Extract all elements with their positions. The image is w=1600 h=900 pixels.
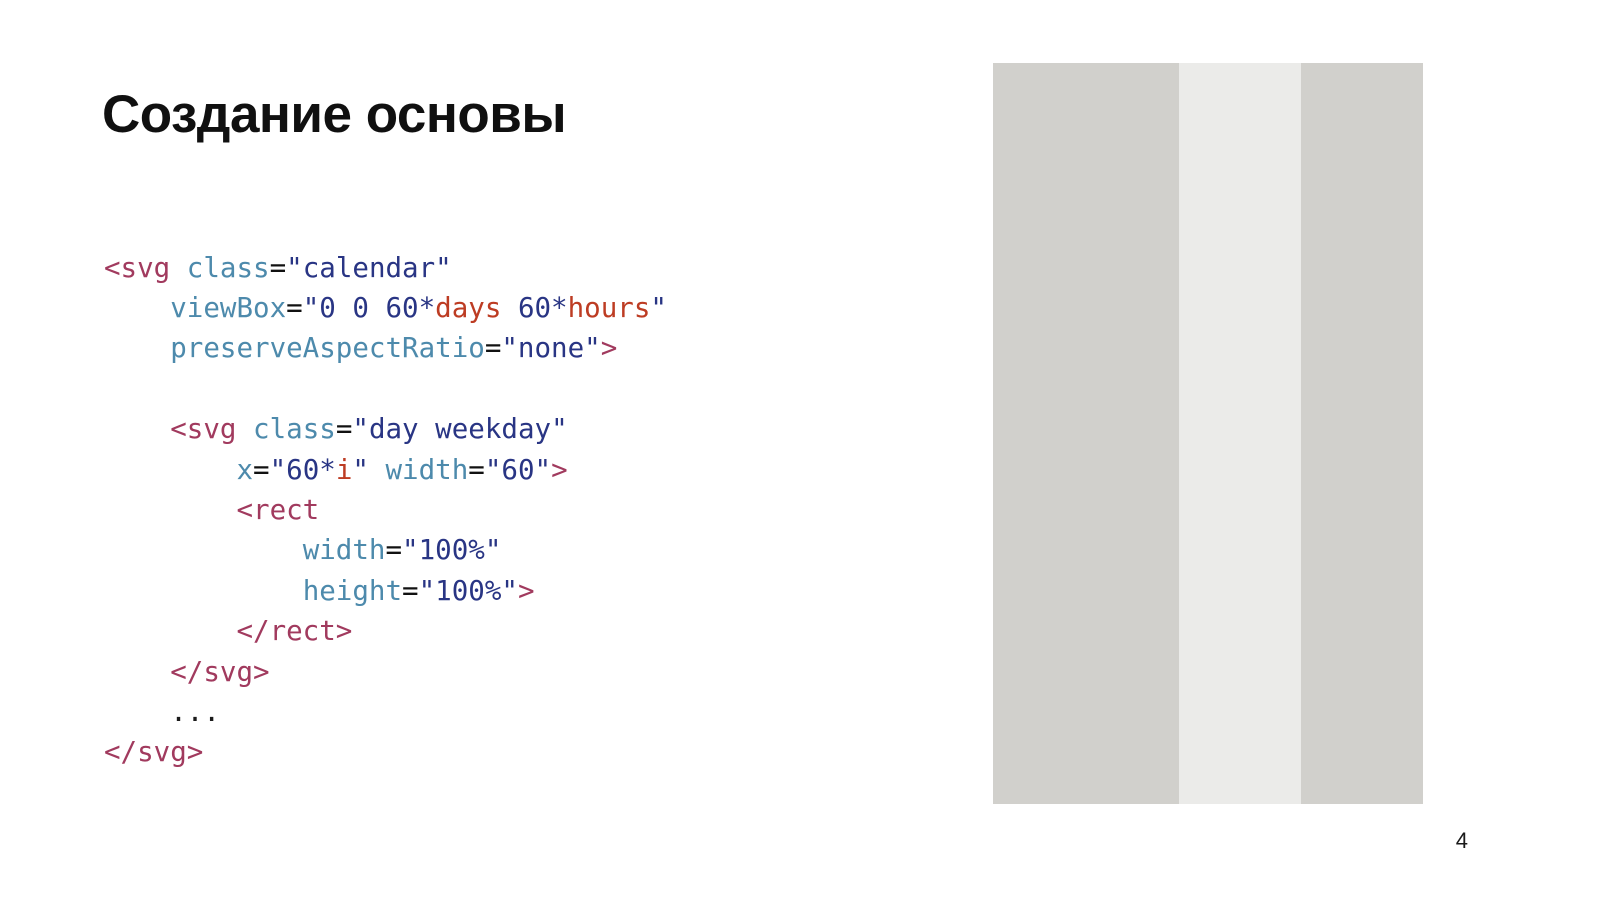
calendar-preview-figure [993, 63, 1423, 804]
code-token-tag: </rect> [236, 615, 352, 647]
code-line: width="100%" [104, 530, 667, 570]
weekday-column-2 [1301, 63, 1423, 804]
code-token-attr: preserveAspectRatio [170, 332, 485, 364]
code-indent [104, 575, 303, 607]
code-token-tag: </svg> [170, 656, 269, 688]
code-line: </rect> [104, 611, 667, 651]
code-token-plain [170, 252, 187, 284]
code-token-eq: = [336, 413, 353, 445]
code-token-attr: viewBox [170, 292, 286, 324]
code-line: viewBox="0 0 60*days 60*hours" [104, 288, 667, 328]
code-token-plain [236, 413, 253, 445]
code-line: x="60*i" width="60"> [104, 450, 667, 490]
code-token-attr: class [187, 252, 270, 284]
code-token-tag: > [551, 454, 568, 486]
code-line [104, 369, 667, 409]
code-token-eq: = [485, 332, 502, 364]
code-token-eq: = [468, 454, 485, 486]
code-line: preserveAspectRatio="none"> [104, 328, 667, 368]
code-token-attr: x [236, 454, 253, 486]
code-indent [104, 332, 170, 364]
code-token-attr: class [253, 413, 336, 445]
code-token-tag: <svg [170, 413, 236, 445]
code-token-eq: = [270, 252, 287, 284]
code-token-plain [369, 454, 386, 486]
code-token-eq: = [385, 534, 402, 566]
code-token-str: "calendar" [286, 252, 452, 284]
code-token-tag: > [601, 332, 618, 364]
code-token-var: days [435, 292, 501, 324]
slide: Создание основы <svg class="calendar" vi… [0, 0, 1600, 900]
code-line: height="100%"> [104, 571, 667, 611]
code-indent [104, 494, 236, 526]
code-token-str: "100%" [402, 534, 501, 566]
code-token-str: "60" [485, 454, 551, 486]
code-token-attr: width [303, 534, 386, 566]
code-token-str: " [650, 292, 667, 324]
weekend-column [1179, 63, 1301, 804]
code-token-str: "0 0 60* [303, 292, 435, 324]
code-token-eq: = [286, 292, 303, 324]
code-line: <svg class="day weekday" [104, 409, 667, 449]
code-token-str: "none" [501, 332, 600, 364]
page-number: 4 [1456, 830, 1468, 852]
code-token-tag: </svg> [104, 736, 203, 768]
code-token-plain: ... [170, 696, 220, 728]
code-token-str: "60* [270, 454, 336, 486]
code-token-str: "100%" [419, 575, 518, 607]
code-line: </svg> [104, 732, 667, 772]
code-token-str: " [352, 454, 369, 486]
code-token-str: "day weekday" [352, 413, 567, 445]
code-snippet: <svg class="calendar" viewBox="0 0 60*da… [104, 248, 667, 773]
code-line: ... [104, 692, 667, 732]
code-indent [104, 656, 170, 688]
code-indent [104, 413, 170, 445]
code-token-attr: width [386, 454, 469, 486]
code-token-tag: > [518, 575, 535, 607]
code-indent [104, 534, 303, 566]
code-token-tag: <svg [104, 252, 170, 284]
code-token-eq: = [402, 575, 419, 607]
code-indent [104, 696, 170, 728]
code-line: </svg> [104, 652, 667, 692]
code-line: <svg class="calendar" [104, 248, 667, 288]
code-token-str: 60* [501, 292, 567, 324]
page-title: Создание основы [102, 84, 566, 145]
code-token-eq: = [253, 454, 270, 486]
code-token-tag: <rect [236, 494, 319, 526]
weekday-column-1 [993, 63, 1179, 804]
code-token-attr: height [303, 575, 402, 607]
code-indent [104, 615, 236, 647]
code-line: <rect [104, 490, 667, 530]
code-token-var: hours [568, 292, 651, 324]
code-token-var: i [336, 454, 353, 486]
code-indent [104, 292, 170, 324]
code-indent [104, 454, 236, 486]
